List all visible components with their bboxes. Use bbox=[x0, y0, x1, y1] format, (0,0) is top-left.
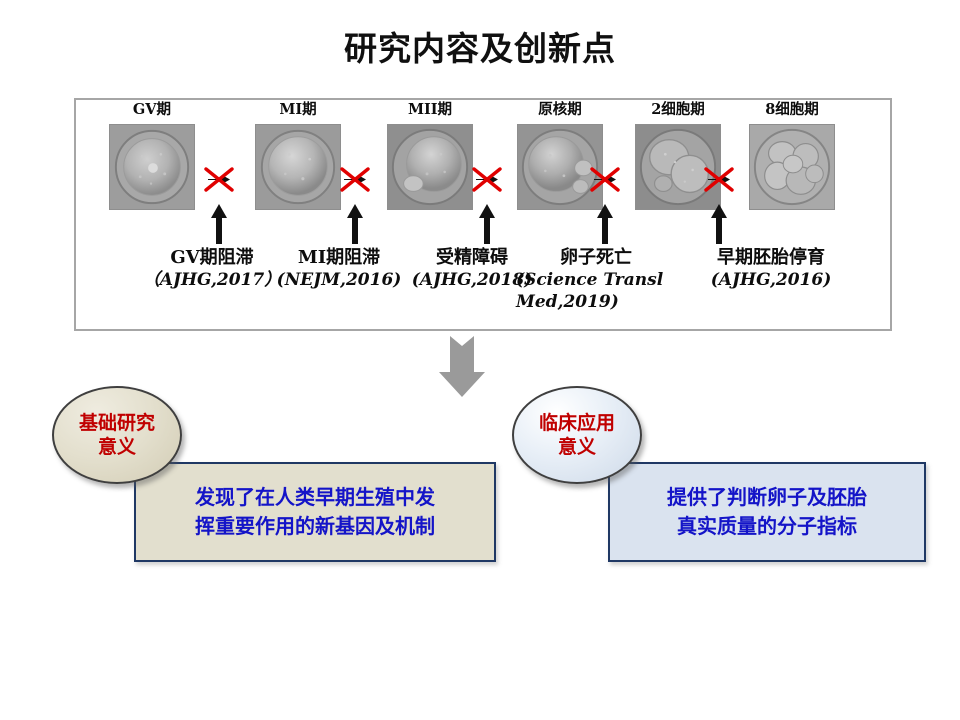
block-marker-1 bbox=[202, 164, 236, 194]
page-title: 研究内容及创新点 bbox=[0, 22, 960, 70]
pointer-arrow-5 bbox=[710, 204, 728, 244]
stage-label-pronuclear: 原核期 bbox=[506, 100, 614, 120]
block-marker-2 bbox=[338, 164, 372, 194]
stage-gv: GV期 bbox=[98, 100, 206, 210]
callout-basic-line1: 基础研究 bbox=[79, 411, 155, 435]
conclusion-box-basic-research: 发现了在人类早期生殖中发 挥重要作用的新基因及机制 bbox=[134, 462, 496, 562]
pointer-arrow-3 bbox=[478, 204, 496, 244]
stage-label-gv: GV期 bbox=[98, 100, 206, 120]
callout-clinic-line1: 临床应用 bbox=[539, 411, 615, 435]
callout-clinical-application: 临床应用 意义 bbox=[512, 386, 642, 484]
caption-phenotype: 早期胚胎停育 bbox=[676, 246, 866, 269]
stage-mii: MII期 bbox=[376, 100, 484, 210]
slide-canvas: 研究内容及创新点 GV期 bbox=[0, 0, 960, 720]
stage-label-mi: MI期 bbox=[244, 100, 352, 120]
oocyte-mii-image bbox=[387, 124, 473, 210]
stage-label-mii: MII期 bbox=[376, 100, 484, 120]
conclusion-basic-line2: 挥重要作用的新基因及机制 bbox=[195, 512, 435, 541]
embryo-8cell-image bbox=[749, 124, 835, 210]
stage-8cell: 8细胞期 bbox=[738, 100, 846, 210]
developmental-pipeline-panel: GV期 bbox=[74, 98, 892, 331]
down-arrow-icon bbox=[438, 336, 486, 398]
block-marker-3 bbox=[470, 164, 504, 194]
caption-early-embryo-arrest: 早期胚胎停育 (AJHG,2016) bbox=[676, 246, 866, 291]
oocyte-gv-image bbox=[109, 124, 195, 210]
conclusion-basic-line1: 发现了在人类早期生殖中发 bbox=[195, 483, 435, 512]
callout-clinic-line2: 意义 bbox=[539, 435, 615, 459]
callout-basic-line2: 意义 bbox=[79, 435, 155, 459]
oocyte-mi-image bbox=[255, 124, 341, 210]
conclusion-box-clinical-application: 提供了判断卵子及胚胎 真实质量的分子指标 bbox=[608, 462, 926, 562]
pointer-arrow-4 bbox=[596, 204, 614, 244]
callout-basic-research: 基础研究 意义 bbox=[52, 386, 182, 484]
caption-reference: (Science Transl Med,2019) bbox=[516, 269, 676, 313]
stage-label-2cell: 2细胞期 bbox=[624, 100, 732, 120]
pointer-arrow-1 bbox=[210, 204, 228, 244]
caption-reference: (AJHG,2016) bbox=[676, 269, 866, 291]
pointer-arrow-2 bbox=[346, 204, 364, 244]
caption-oocyte-death: 卵子死亡 (Science Transl Med,2019) bbox=[516, 246, 676, 313]
stage-mi: MI期 bbox=[244, 100, 352, 210]
caption-phenotype: 卵子死亡 bbox=[516, 246, 676, 269]
block-marker-5 bbox=[702, 164, 736, 194]
stage-label-8cell: 8细胞期 bbox=[738, 100, 846, 120]
block-marker-4 bbox=[588, 164, 622, 194]
conclusion-clinic-line2: 真实质量的分子指标 bbox=[667, 512, 867, 541]
conclusion-clinic-line1: 提供了判断卵子及胚胎 bbox=[667, 483, 867, 512]
